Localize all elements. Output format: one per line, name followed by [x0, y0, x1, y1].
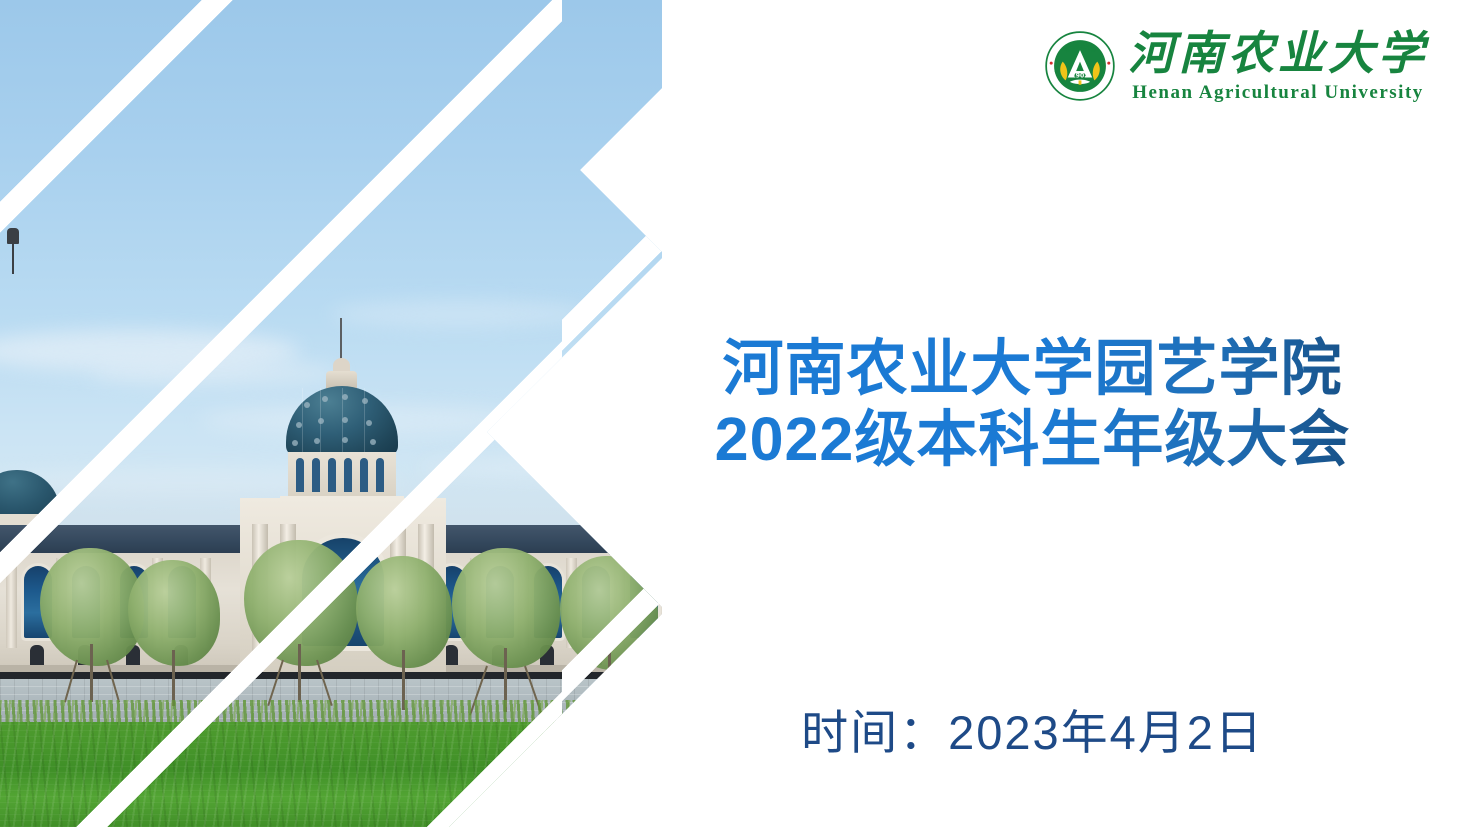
lawn: [0, 722, 680, 827]
svg-text:1902: 1902: [1071, 73, 1088, 80]
tree: [560, 556, 662, 708]
title-slide: 1902 河南农业大学 HENAN AGRICULTURAL UNIVERSIT…: [0, 0, 1471, 827]
university-emblem-icon: 1902 河南农业大学 HENAN AGRICULTURAL UNIVERSIT…: [1044, 30, 1116, 102]
page-title: 河南农业大学园艺学院 2022级本科生年级大会: [660, 333, 1405, 476]
logo-chinese-name: 河南农业大学: [1128, 31, 1428, 77]
tree: [128, 560, 224, 700]
logo-wordmark: 河南农业大学 Henan Agricultural University: [1128, 31, 1428, 102]
tree: [356, 556, 456, 706]
lamp-post-icon: [4, 228, 22, 274]
campus-photo-image: [0, 0, 680, 827]
title-line-1: 河南农业大学园艺学院: [660, 333, 1405, 404]
event-datetime: 时间：2023年4月2日: [660, 694, 1405, 763]
title-line-2: 2022级本科生年级大会: [660, 404, 1405, 475]
campus-photo: [0, 0, 680, 827]
tree: [452, 548, 564, 712]
tree: [244, 540, 362, 702]
logo-english-name: Henan Agricultural University: [1132, 83, 1424, 102]
university-logo: 1902 河南农业大学 HENAN AGRICULTURAL UNIVERSIT…: [1044, 20, 1424, 112]
building-dome: [252, 318, 432, 518]
